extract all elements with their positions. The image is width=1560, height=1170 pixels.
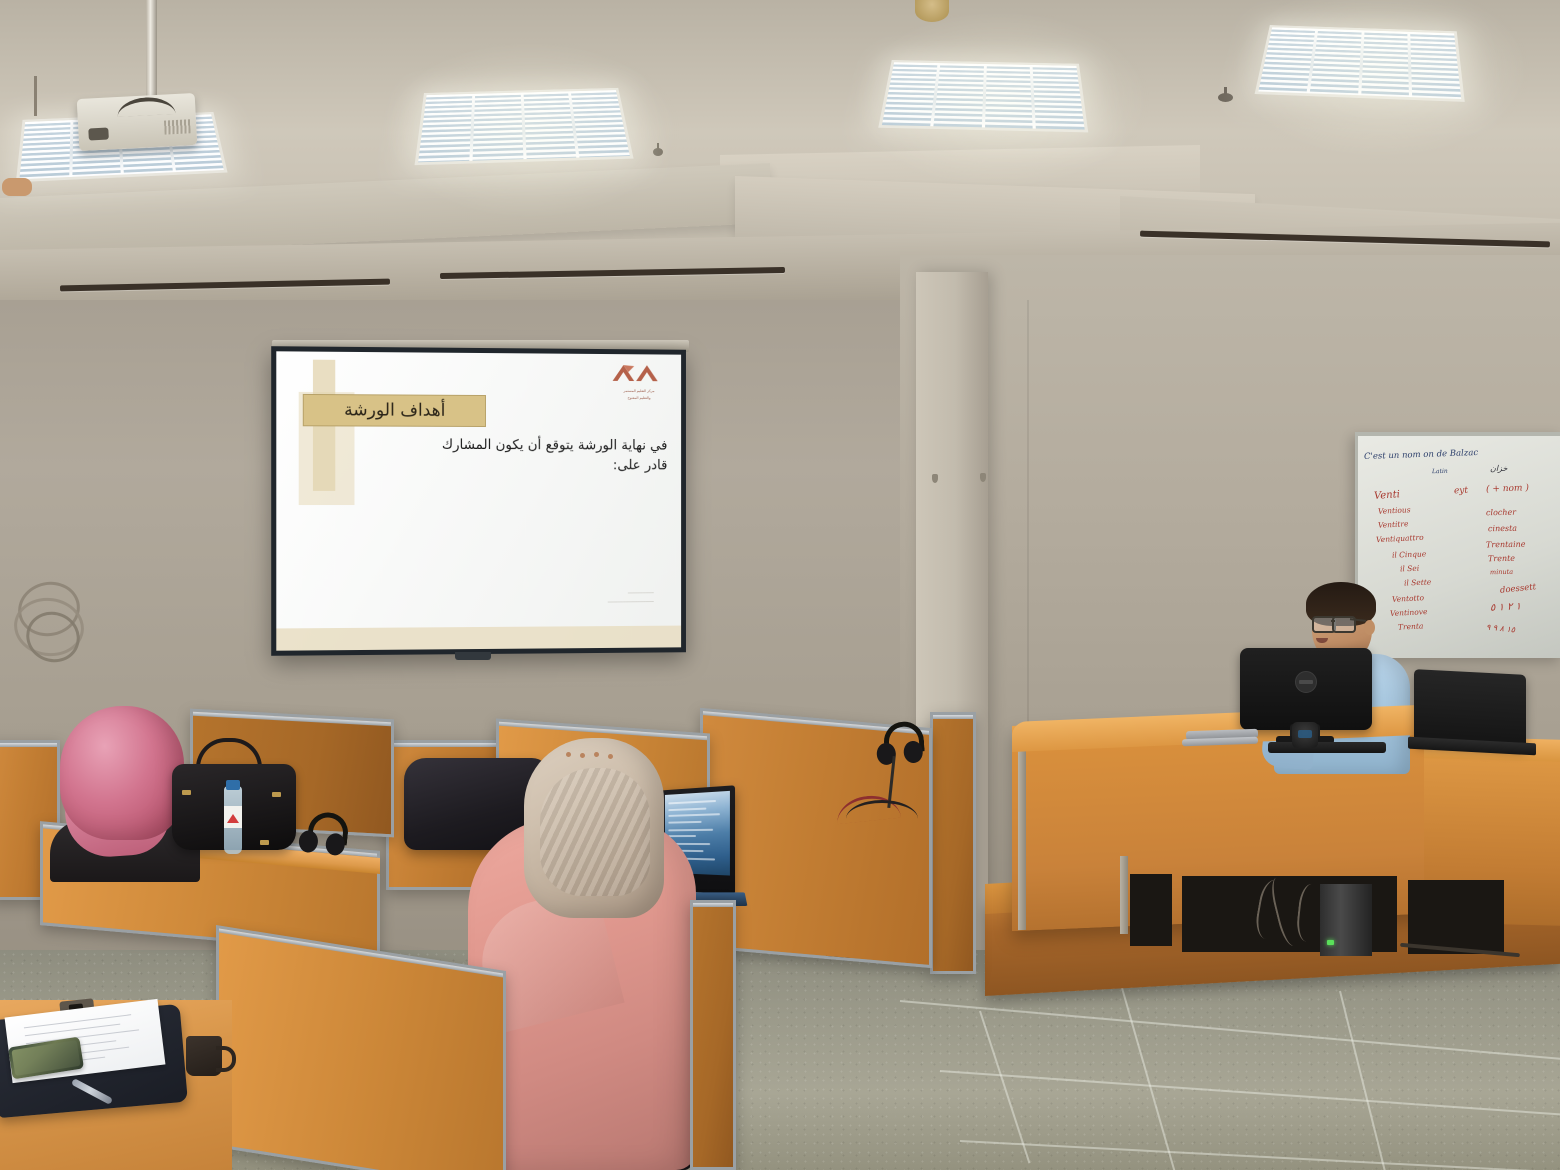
desk-cutout	[1408, 880, 1504, 954]
screen-bottom-weight	[455, 652, 491, 660]
whiteboard-text: ( + nom )	[1486, 483, 1529, 494]
whiteboard-text: ١٥ ٨ ٩ ٩	[1486, 623, 1516, 635]
whiteboard-text: il Cinque	[1392, 549, 1427, 559]
glasses-bridge	[1331, 620, 1335, 622]
desk-leg	[1120, 856, 1128, 934]
coiled-cables	[12, 578, 90, 664]
slide-surface: مركز التعليم المستمر والتعليم المفتوح أه…	[276, 351, 681, 650]
handbag-clasp-icon	[272, 792, 281, 797]
ceiling-projector	[77, 93, 198, 151]
whiteboard-text: Venti	[1374, 489, 1401, 502]
instructor-hand	[2, 178, 32, 196]
whiteboard-text: eyt	[1454, 486, 1469, 497]
whiteboard-text: خزان	[1490, 464, 1507, 473]
cubicle-partition[interactable]	[930, 712, 976, 974]
projector-vent	[164, 119, 191, 134]
whiteboard-text: Ventitre	[1378, 519, 1409, 530]
handbag-clasp-icon	[182, 790, 191, 795]
slide-title-text: أهداف الورشة	[344, 400, 445, 421]
whiteboard-text: C'est un nom on de Balzac	[1364, 448, 1478, 462]
slide-body-line2: قادر على:	[410, 455, 668, 476]
whiteboard-text: Trentaine	[1486, 540, 1526, 550]
cubicle-partition-foreground[interactable]	[690, 900, 736, 1170]
whiteboard-text: Ventious	[1378, 505, 1411, 516]
headphones-icon[interactable]	[298, 810, 348, 855]
ceiling-dome-fixture	[915, 0, 949, 22]
whiteboard-text: ١ ٢ ١ ٥	[1490, 601, 1522, 614]
ceiling-light-panel	[415, 88, 634, 165]
cable-tail	[34, 76, 37, 116]
desk-speaker[interactable]	[1292, 722, 1318, 748]
projection-screen[interactable]: مركز التعليم المستمر والتعليم المفتوح أه…	[271, 346, 686, 656]
instructor-ear	[1364, 620, 1375, 635]
whiteboard-text: clocher	[1486, 508, 1516, 518]
handbag-clasp-icon	[260, 840, 269, 845]
desk-leg	[1018, 740, 1026, 930]
bottle-label	[224, 806, 242, 828]
organization-logo: مركز التعليم المستمر والتعليم المفتوح	[611, 362, 668, 402]
projector-cable	[117, 96, 176, 117]
slide-body: في نهاية الورشة يتوقع أن يكون المشارك قا…	[410, 435, 668, 476]
whiteboard-text: Latin	[1432, 468, 1448, 475]
projector-mount-pole	[146, 0, 157, 98]
wall-hook-icon	[932, 474, 938, 483]
headphones-icon[interactable]	[875, 720, 924, 763]
slide-body-line1: في نهاية الورشة يتوقع أن يكون المشارك	[410, 435, 668, 456]
slide-footer-line2: ــــــــــــــــــــــــــــــــ	[476, 597, 654, 607]
desk-cutout	[1130, 874, 1172, 946]
smoke-detector-icon	[1218, 93, 1233, 102]
ceiling-light-panel	[1255, 25, 1465, 102]
two-peaks-icon	[611, 362, 668, 382]
whiteboard-text: cinesta	[1488, 524, 1517, 534]
classroom-scene: مركز التعليم المستمر والتعليم المفتوح أه…	[0, 0, 1560, 1170]
whiteboard-text: Ventiquattro	[1376, 533, 1424, 544]
hijab-wrap-texture	[540, 768, 650, 896]
pc-tower	[1320, 884, 1372, 956]
hijab-beads	[566, 752, 618, 760]
dell-logo-icon	[1295, 671, 1317, 693]
power-led-icon	[1327, 940, 1334, 945]
slide-footer: ــــــــــــــــــ ـــــــــــــــــــــ…	[476, 588, 654, 607]
slide-bottom-strip	[276, 626, 681, 651]
whiteboard-text: doessett	[1500, 582, 1537, 596]
keyboard[interactable]	[1268, 742, 1386, 753]
logo-caption-line2: والتعليم المفتوح	[611, 395, 668, 401]
bottle-cap	[226, 780, 240, 790]
projector-lens-icon	[88, 128, 109, 141]
ceiling-light-panel	[878, 60, 1088, 132]
logo-caption-line1: مركز التعليم المستمر	[611, 388, 668, 394]
ceiling-knob	[653, 148, 663, 156]
wall-hook-icon	[980, 473, 986, 482]
slide-title-banner: أهداف الورشة	[303, 394, 486, 427]
student-left-hijab	[60, 706, 184, 840]
coffee-mug	[186, 1036, 222, 1076]
dell-monitor[interactable]	[1240, 648, 1372, 730]
whiteboard-text: Trente	[1488, 554, 1515, 563]
whiteboard-text: minuta	[1490, 568, 1513, 576]
